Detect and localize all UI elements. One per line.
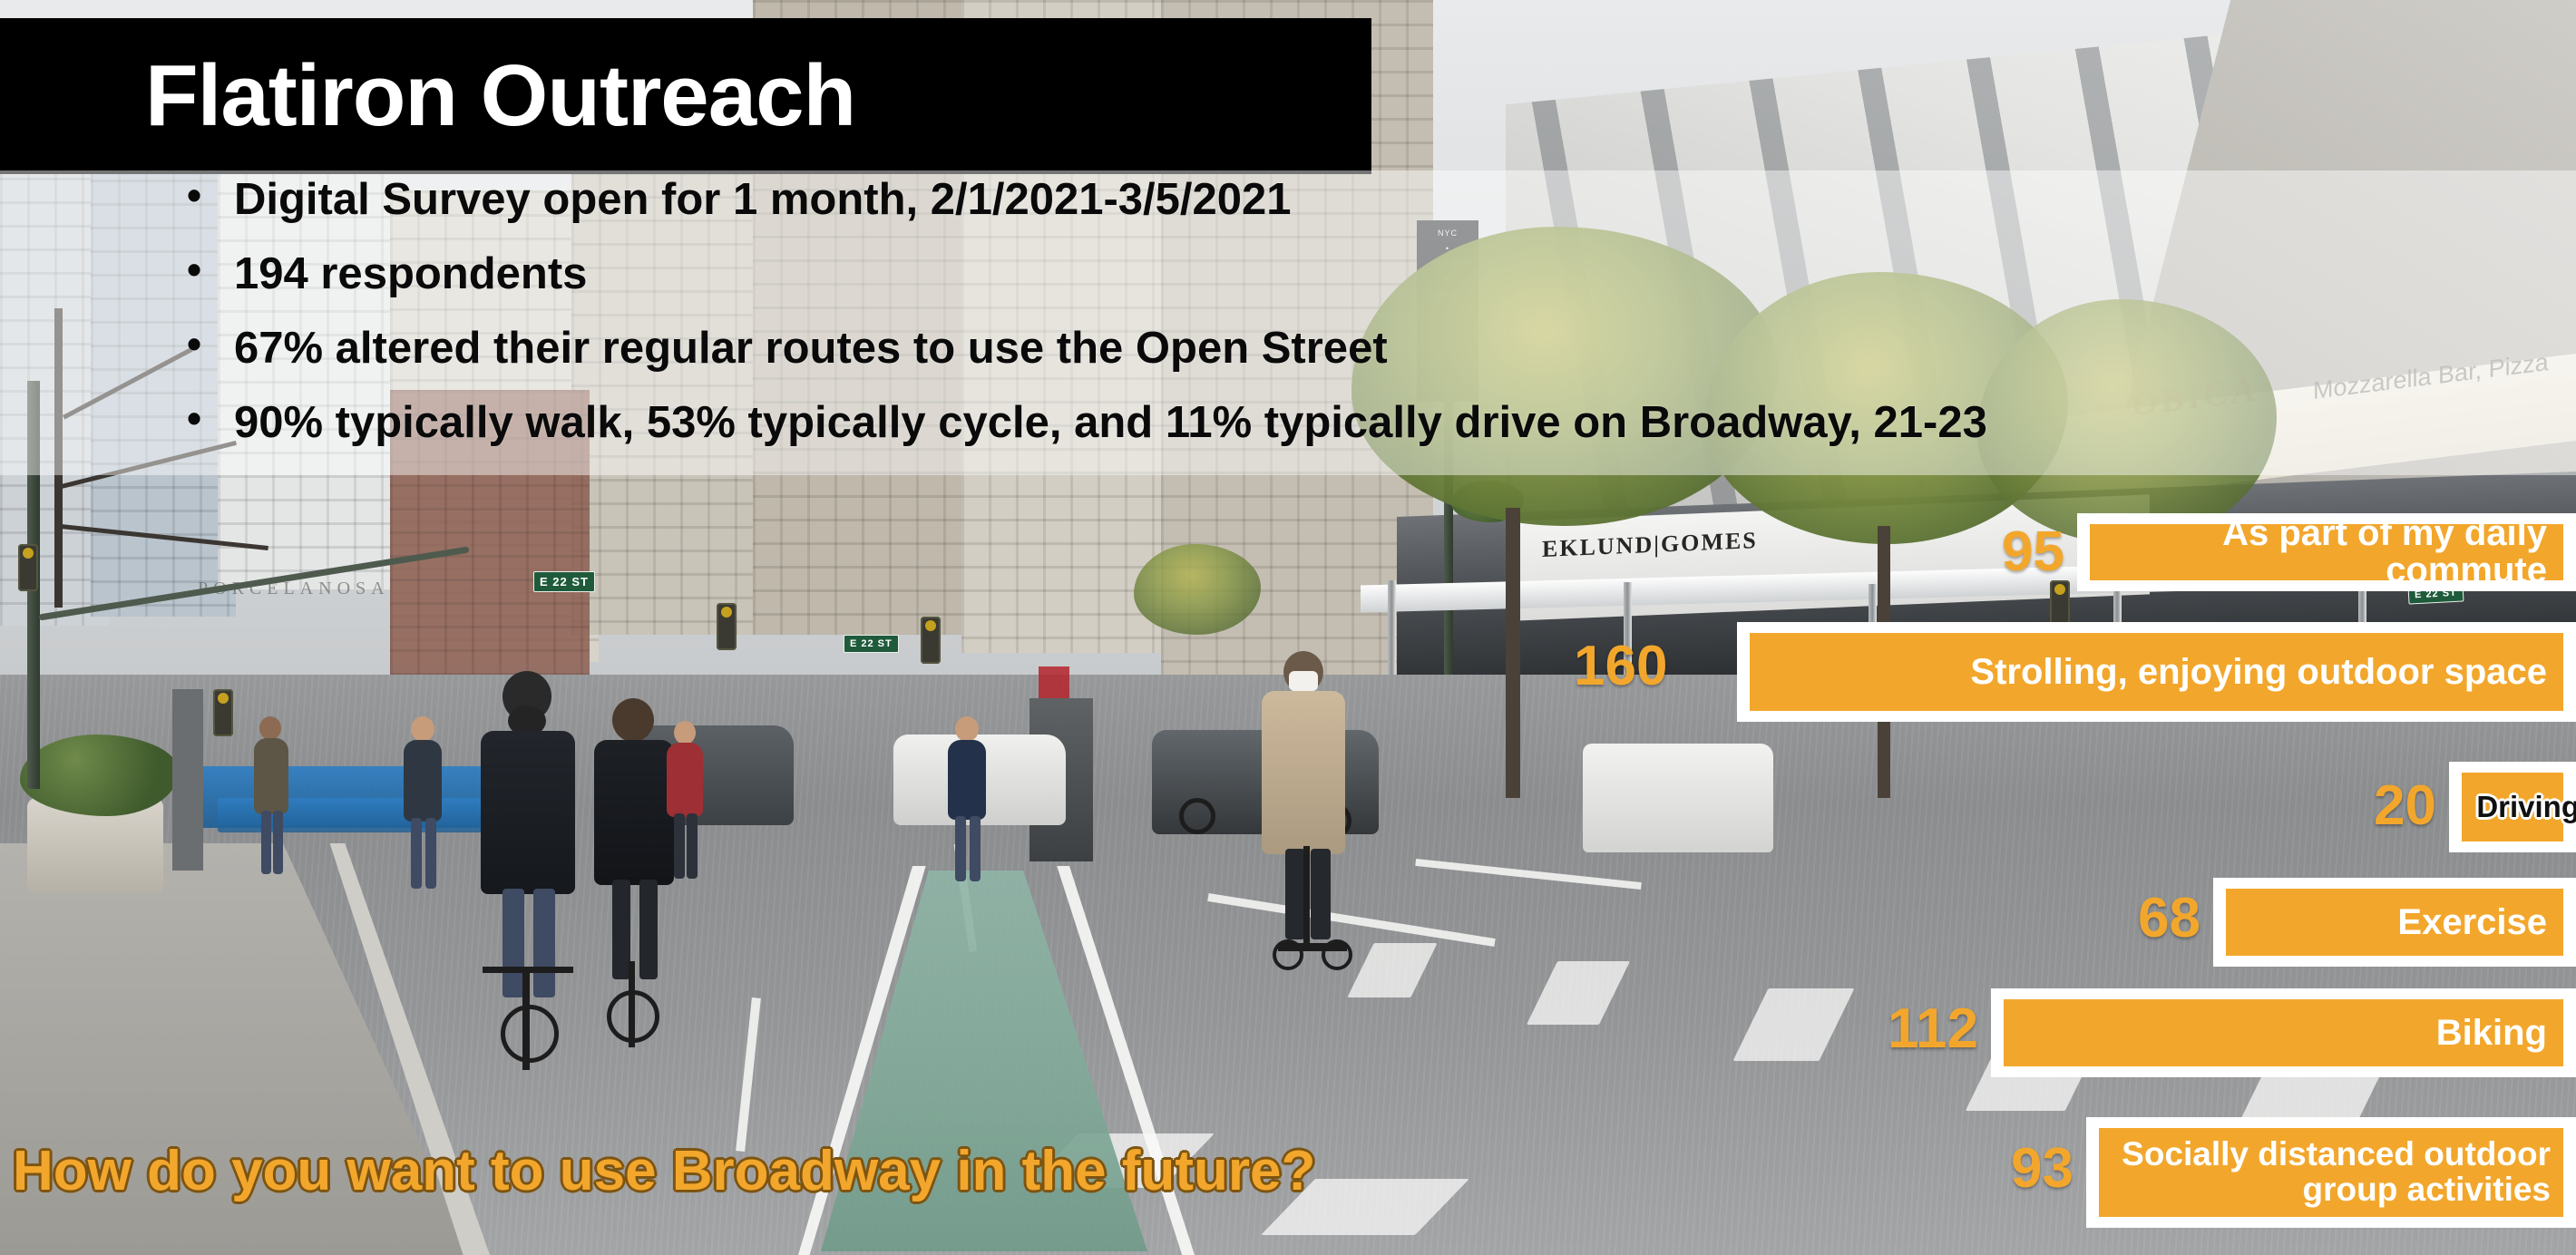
footer-question: How do you want to use Broadway in the f…	[13, 1139, 1315, 1203]
street-sign-e22-center: E 22 ST	[844, 635, 899, 653]
traffic-signal-left	[18, 544, 38, 591]
title-bar: Flatiron Outreach	[0, 18, 1371, 174]
parking-kiosk	[172, 689, 203, 871]
traffic-signal-far-right	[2050, 580, 2070, 627]
bullet-list: Digital Survey open for 1 month, 2/1/202…	[181, 178, 2558, 475]
street-sign-e22-left: E 22 ST	[533, 571, 595, 592]
list-item: 67% altered their regular routes to use …	[181, 326, 2558, 371]
list-item: 194 respondents	[181, 252, 2558, 297]
planter-greens-1	[20, 735, 179, 816]
traffic-signal-mid	[213, 689, 233, 736]
list-item: 90% typically walk, 53% typically cycle,…	[181, 401, 2558, 445]
traffic-signal-right	[921, 617, 941, 664]
list-item: Digital Survey open for 1 month, 2/1/202…	[181, 178, 2558, 222]
street-sign-e22-right: E 22 ST	[2408, 583, 2464, 604]
white-van	[1583, 744, 1773, 852]
page-title: Flatiron Outreach	[145, 53, 855, 140]
slide-root: PORCELANOSA OBICÀ Mozzarella Bar, Pizza …	[0, 0, 2576, 1255]
tree-trunk-1	[1506, 508, 1520, 798]
car-wheel-1	[1179, 798, 1215, 834]
traffic-signal-center	[717, 603, 737, 650]
tree-trunk-2	[1878, 526, 1890, 798]
street-tree-mid	[1134, 544, 1261, 635]
